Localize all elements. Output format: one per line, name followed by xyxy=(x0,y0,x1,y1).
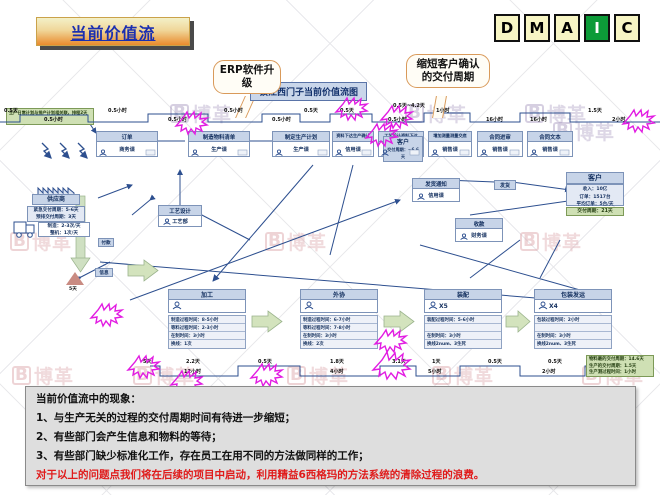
label-payment[interactable]: 付款 xyxy=(98,238,114,247)
findings-heading: 当前价值流中的现象： xyxy=(36,393,625,405)
watermark-mark: B xyxy=(10,232,29,251)
label-info[interactable]: 信息 xyxy=(95,268,113,277)
process-box-shipping-notice[interactable]: 发货通知 信用课 xyxy=(412,178,460,202)
timeline-summary: 物料最的交付周期：14.6天 生产的交付周期：1.5天 生产测过程时间：1小时 xyxy=(586,355,654,377)
supplier-label[interactable]: 供应商 xyxy=(32,194,80,205)
process-box-collection[interactable]: 收款 财务课 xyxy=(455,218,503,242)
process-box-header: 外协 xyxy=(301,290,377,300)
leadtime-label: 0.5小时 xyxy=(224,107,243,114)
process-box-body: 销售课 xyxy=(528,142,572,157)
timeline-day-label: 2.2天 xyxy=(186,358,200,365)
process-box-measure[interactable]: 增加测量测量交底 销售课 xyxy=(428,131,472,157)
process-box-header: 工艺设计 xyxy=(159,206,201,216)
watermark: B 博革 xyxy=(432,362,494,389)
process-box-body: 信用课 xyxy=(333,142,373,157)
timeline-day-label: 0.5天 xyxy=(488,358,502,365)
timeline-day-label: 1.8天 xyxy=(330,358,344,365)
process-box-contract-review[interactable]: 合同进审 销售课 xyxy=(477,131,523,157)
process-box-body: 工艺部 xyxy=(159,216,201,227)
timeline-hour-label: 12小时 xyxy=(184,368,201,375)
data-row: 等料过程时间：7-8小时 xyxy=(301,324,377,332)
data-row: 换线：2次 xyxy=(301,340,377,348)
process-box-body: 销售课 xyxy=(429,142,471,157)
process-box-header: 资料下达生产确认 xyxy=(333,132,373,142)
process-box-body: 商务课 xyxy=(97,142,157,157)
watermark-text: 博革 xyxy=(34,362,74,389)
process-box-header: 合同文本 xyxy=(528,132,572,142)
customer-info-line: 订单：1517台 xyxy=(569,194,621,202)
watermark: B 博革 xyxy=(520,228,582,255)
leadtime-label: 0.5小时 xyxy=(388,116,407,123)
data-row: 在制时间：3小时 xyxy=(425,332,501,340)
data-row: 等料过程时间：2-3小时 xyxy=(169,324,245,332)
process-box-header: 包装发运 xyxy=(535,290,611,300)
watermark-mark: B xyxy=(12,366,31,385)
dmaic-letter-c[interactable]: C xyxy=(614,14,640,42)
process-box-body: 信用课 xyxy=(413,189,459,202)
process-box-header: 增加测量测量交底 xyxy=(429,132,471,142)
data-row: 包装过程时间：2小时 xyxy=(535,316,611,324)
data-row: 换线2num、3生死 xyxy=(425,340,501,348)
watermark-text: 博革 xyxy=(287,228,327,255)
customer-small-lead-time: 交付周期：~6.6天 xyxy=(386,147,420,160)
process-box-body: 生产课 xyxy=(189,142,249,157)
findings-panel: 当前价值流中的现象： 1、与生产无关的过程的交付周期时间有待进一步缩短； 2、有… xyxy=(25,386,636,486)
watermark: B 博革 xyxy=(265,228,327,255)
leadtime-label: 1小时 xyxy=(436,107,449,114)
leadtime-label: 0.5小时 xyxy=(272,116,291,123)
timeline-hour-label: 4小时 xyxy=(330,368,343,375)
leadtime-label: 0.5小时 xyxy=(44,116,63,123)
process-box-header: 收款 xyxy=(456,219,502,229)
dmaic-letter-d[interactable]: D xyxy=(494,14,520,42)
process-box-header: 装配 xyxy=(425,290,501,300)
findings-item: 1、与生产无关的过程的交付周期时间有待进一步缩短； xyxy=(36,412,625,424)
findings-conclusion: 对于以上的问题点我们将在后续的项目中启动，利用精益6西格玛的方法系统的清除过程的… xyxy=(36,469,625,481)
process-data-machining: 制造过程时间：8-5小时 等料过程时间：2-3小时 在制时间：3小时 换线：1次 xyxy=(168,315,246,349)
timeline-day-label: 5天 xyxy=(143,358,151,365)
process-data-assembly: 装配过程时间：5-6小时 在制时间：3小时 换线2num、3生死 xyxy=(424,315,502,349)
process-box-qty: X5 xyxy=(425,300,501,313)
process-box-data-release[interactable]: 资料下达生产确认 信用课 xyxy=(332,131,374,157)
watermark-text: 博革 xyxy=(575,118,615,145)
inventory-label: 5天 xyxy=(69,286,77,292)
leadtime-label: 0.5天~4.2天 xyxy=(393,102,425,109)
leadtime-label: 0.5小时 xyxy=(168,116,187,123)
findings-item: 3、有些部门缺少标准化工作，存在员工在用不同的方法做同样的工作； xyxy=(36,450,625,462)
truck-delivery-info: 制造：2-3次/天 整机：1次/天 xyxy=(38,222,90,237)
leadtime-label: 0.5天 xyxy=(304,107,318,114)
watermark-mark: B xyxy=(133,366,152,385)
process-box-bom[interactable]: 制造物料清单 生产课 xyxy=(188,131,250,157)
process-box-contract-text[interactable]: 合同文本 销售课 xyxy=(527,131,573,157)
timeline-day-label: 0.5天 xyxy=(548,358,562,365)
data-row: 装配过程时间：5-6小时 xyxy=(425,316,501,324)
dmaic-letter-m[interactable]: M xyxy=(524,14,550,42)
inventory-triangle-icon xyxy=(66,272,84,285)
process-box-body: 生产课 xyxy=(273,142,329,157)
data-row: 换线：1次 xyxy=(169,340,245,348)
process-box-header: 制造物料清单 xyxy=(189,132,249,142)
data-row: 换线2num、3生死 xyxy=(535,340,611,348)
leadtime-label: 0.5小时 xyxy=(108,107,127,114)
process-box-header: 制定生产计划 xyxy=(273,132,329,142)
data-row: 在制时间：3小时 xyxy=(169,332,245,340)
process-box-production-plan[interactable]: 制定生产计划 生产课 xyxy=(272,131,330,157)
dmaic-letter-i[interactable]: I xyxy=(584,14,610,42)
timeline-hour-label: 2小时 xyxy=(542,368,555,375)
leadtime-label: 2小时 xyxy=(612,116,625,123)
customer-info-line: 收入：10亿 xyxy=(569,186,621,194)
customer-lead-time: 交付周期：21天 xyxy=(566,207,624,216)
data-row xyxy=(535,324,611,332)
page-title: 当前价值流 xyxy=(36,17,190,46)
process-box-body: 财务课 xyxy=(456,229,502,242)
customer-label-text: 客户 xyxy=(588,173,602,184)
process-box-header: 发货通知 xyxy=(413,179,459,189)
customer-info: 收入：10亿 订单：1517台 平均订单：5台/天 xyxy=(566,184,624,206)
watermark: B 博革 xyxy=(133,362,195,389)
data-row: 在制时间：3小时 xyxy=(535,332,611,340)
watermark-text: 博革 xyxy=(309,362,349,389)
customer-small-label: 客户 xyxy=(386,138,420,147)
data-row xyxy=(425,324,501,332)
process-box-outsourcing[interactable]: 外协 xyxy=(300,289,378,313)
process-box-body: 销售课 xyxy=(478,142,522,157)
watermark-mark: B xyxy=(265,232,284,251)
watermark-text: 博革 xyxy=(542,228,582,255)
callout-shorten-cycle: 缩短客户确认的交付周期 xyxy=(406,54,490,88)
process-box-machining[interactable]: 加工 xyxy=(168,289,246,313)
timeline-day-label: 1天 xyxy=(432,358,440,365)
process-box-assembly[interactable]: 装配 X5 xyxy=(424,289,502,313)
watermark-mark: B xyxy=(287,366,306,385)
process-box-header: 合同进审 xyxy=(478,132,522,142)
data-row: 制造过程时间：8-5小时 xyxy=(169,316,245,324)
process-box-packing-shipping[interactable]: 包装发运 X4 xyxy=(534,289,612,313)
watermark-mark: B xyxy=(520,232,539,251)
customer-box-small[interactable]: 客户 交付周期：~6.6天 xyxy=(383,136,423,162)
timeline-day-label: 0.5天 xyxy=(258,358,272,365)
dmaic-indicator: D M A I C xyxy=(494,14,640,42)
watermark-text: 博革 xyxy=(454,362,494,389)
watermark: B 博革 xyxy=(12,362,74,389)
data-row: 在制时间：3小时 xyxy=(301,332,377,340)
watermark-text: 博革 xyxy=(547,100,587,127)
leadtime-label: 0.5天 xyxy=(4,107,18,114)
process-data-outsourcing: 制造过程时间：6-7小时 等料过程时间：7-8小时 在制时间：3小时 换线：2次 xyxy=(300,315,378,349)
process-box-qty xyxy=(169,300,245,313)
watermark-text: 博革 xyxy=(155,362,195,389)
process-data-packing: 包装过程时间：2小时 在制时间：3小时 换线2num、3生死 xyxy=(534,315,612,349)
callout-erp-upgrade: ERP软件升级 xyxy=(213,60,281,94)
process-box-header: 加工 xyxy=(169,290,245,300)
data-row: 制造过程时间：6-7小时 xyxy=(301,316,377,324)
label-shipment[interactable]: 发货 xyxy=(494,180,516,190)
process-box-qty xyxy=(301,300,377,313)
leadtime-label: 16小时 xyxy=(530,116,547,123)
findings-item: 2、有些部门会产生信息和物料的等待； xyxy=(36,431,625,443)
leadtime-label: 16小时 xyxy=(486,116,503,123)
leadtime-label: 1.5天 xyxy=(588,107,602,114)
process-box-qty: X4 xyxy=(535,300,611,313)
watermark: B 博革 xyxy=(287,362,349,389)
process-box-process-engineering[interactable]: 工艺设计 工艺部 xyxy=(158,205,202,227)
leadtime-label: 0.5天 xyxy=(340,107,354,114)
supplier-info: 紧急交付周期：5-6天 预排交付周期：3天 xyxy=(27,206,85,222)
customer-label[interactable]: 客户 xyxy=(566,172,624,184)
page-title-text: 当前价值流 xyxy=(70,20,155,44)
process-box-order[interactable]: 订单 商务课 xyxy=(96,131,158,157)
timeline-hour-label: 5小时 xyxy=(428,368,441,375)
timeline-day-label: 3.1天 xyxy=(392,358,406,365)
dmaic-letter-a[interactable]: A xyxy=(554,14,580,42)
process-box-header: 订单 xyxy=(97,132,157,142)
